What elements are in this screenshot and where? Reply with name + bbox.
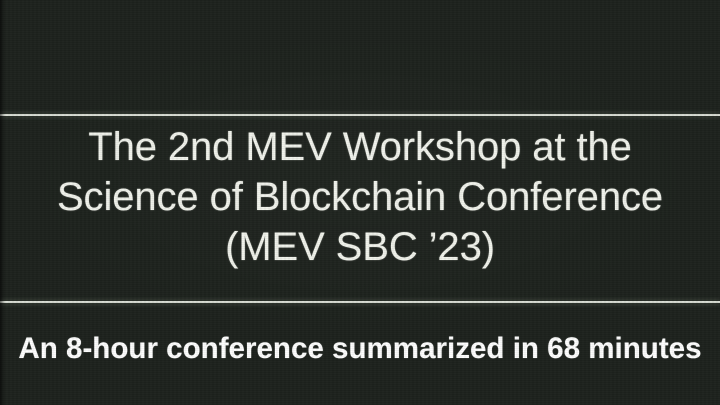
title-line-3: (MEV SBC ’23) bbox=[0, 222, 720, 272]
divider-line-top bbox=[0, 114, 720, 116]
title-line-2: Science of Blockchain Conference bbox=[0, 172, 720, 222]
video-title-card: The 2nd MEV Workshop at the Science of B… bbox=[0, 0, 720, 405]
subtitle-caption: An 8-hour conference summarized in 68 mi… bbox=[5, 330, 714, 368]
title-line-1: The 2nd MEV Workshop at the bbox=[0, 122, 720, 172]
divider-line-bottom bbox=[0, 301, 720, 303]
title-block: The 2nd MEV Workshop at the Science of B… bbox=[0, 122, 720, 272]
